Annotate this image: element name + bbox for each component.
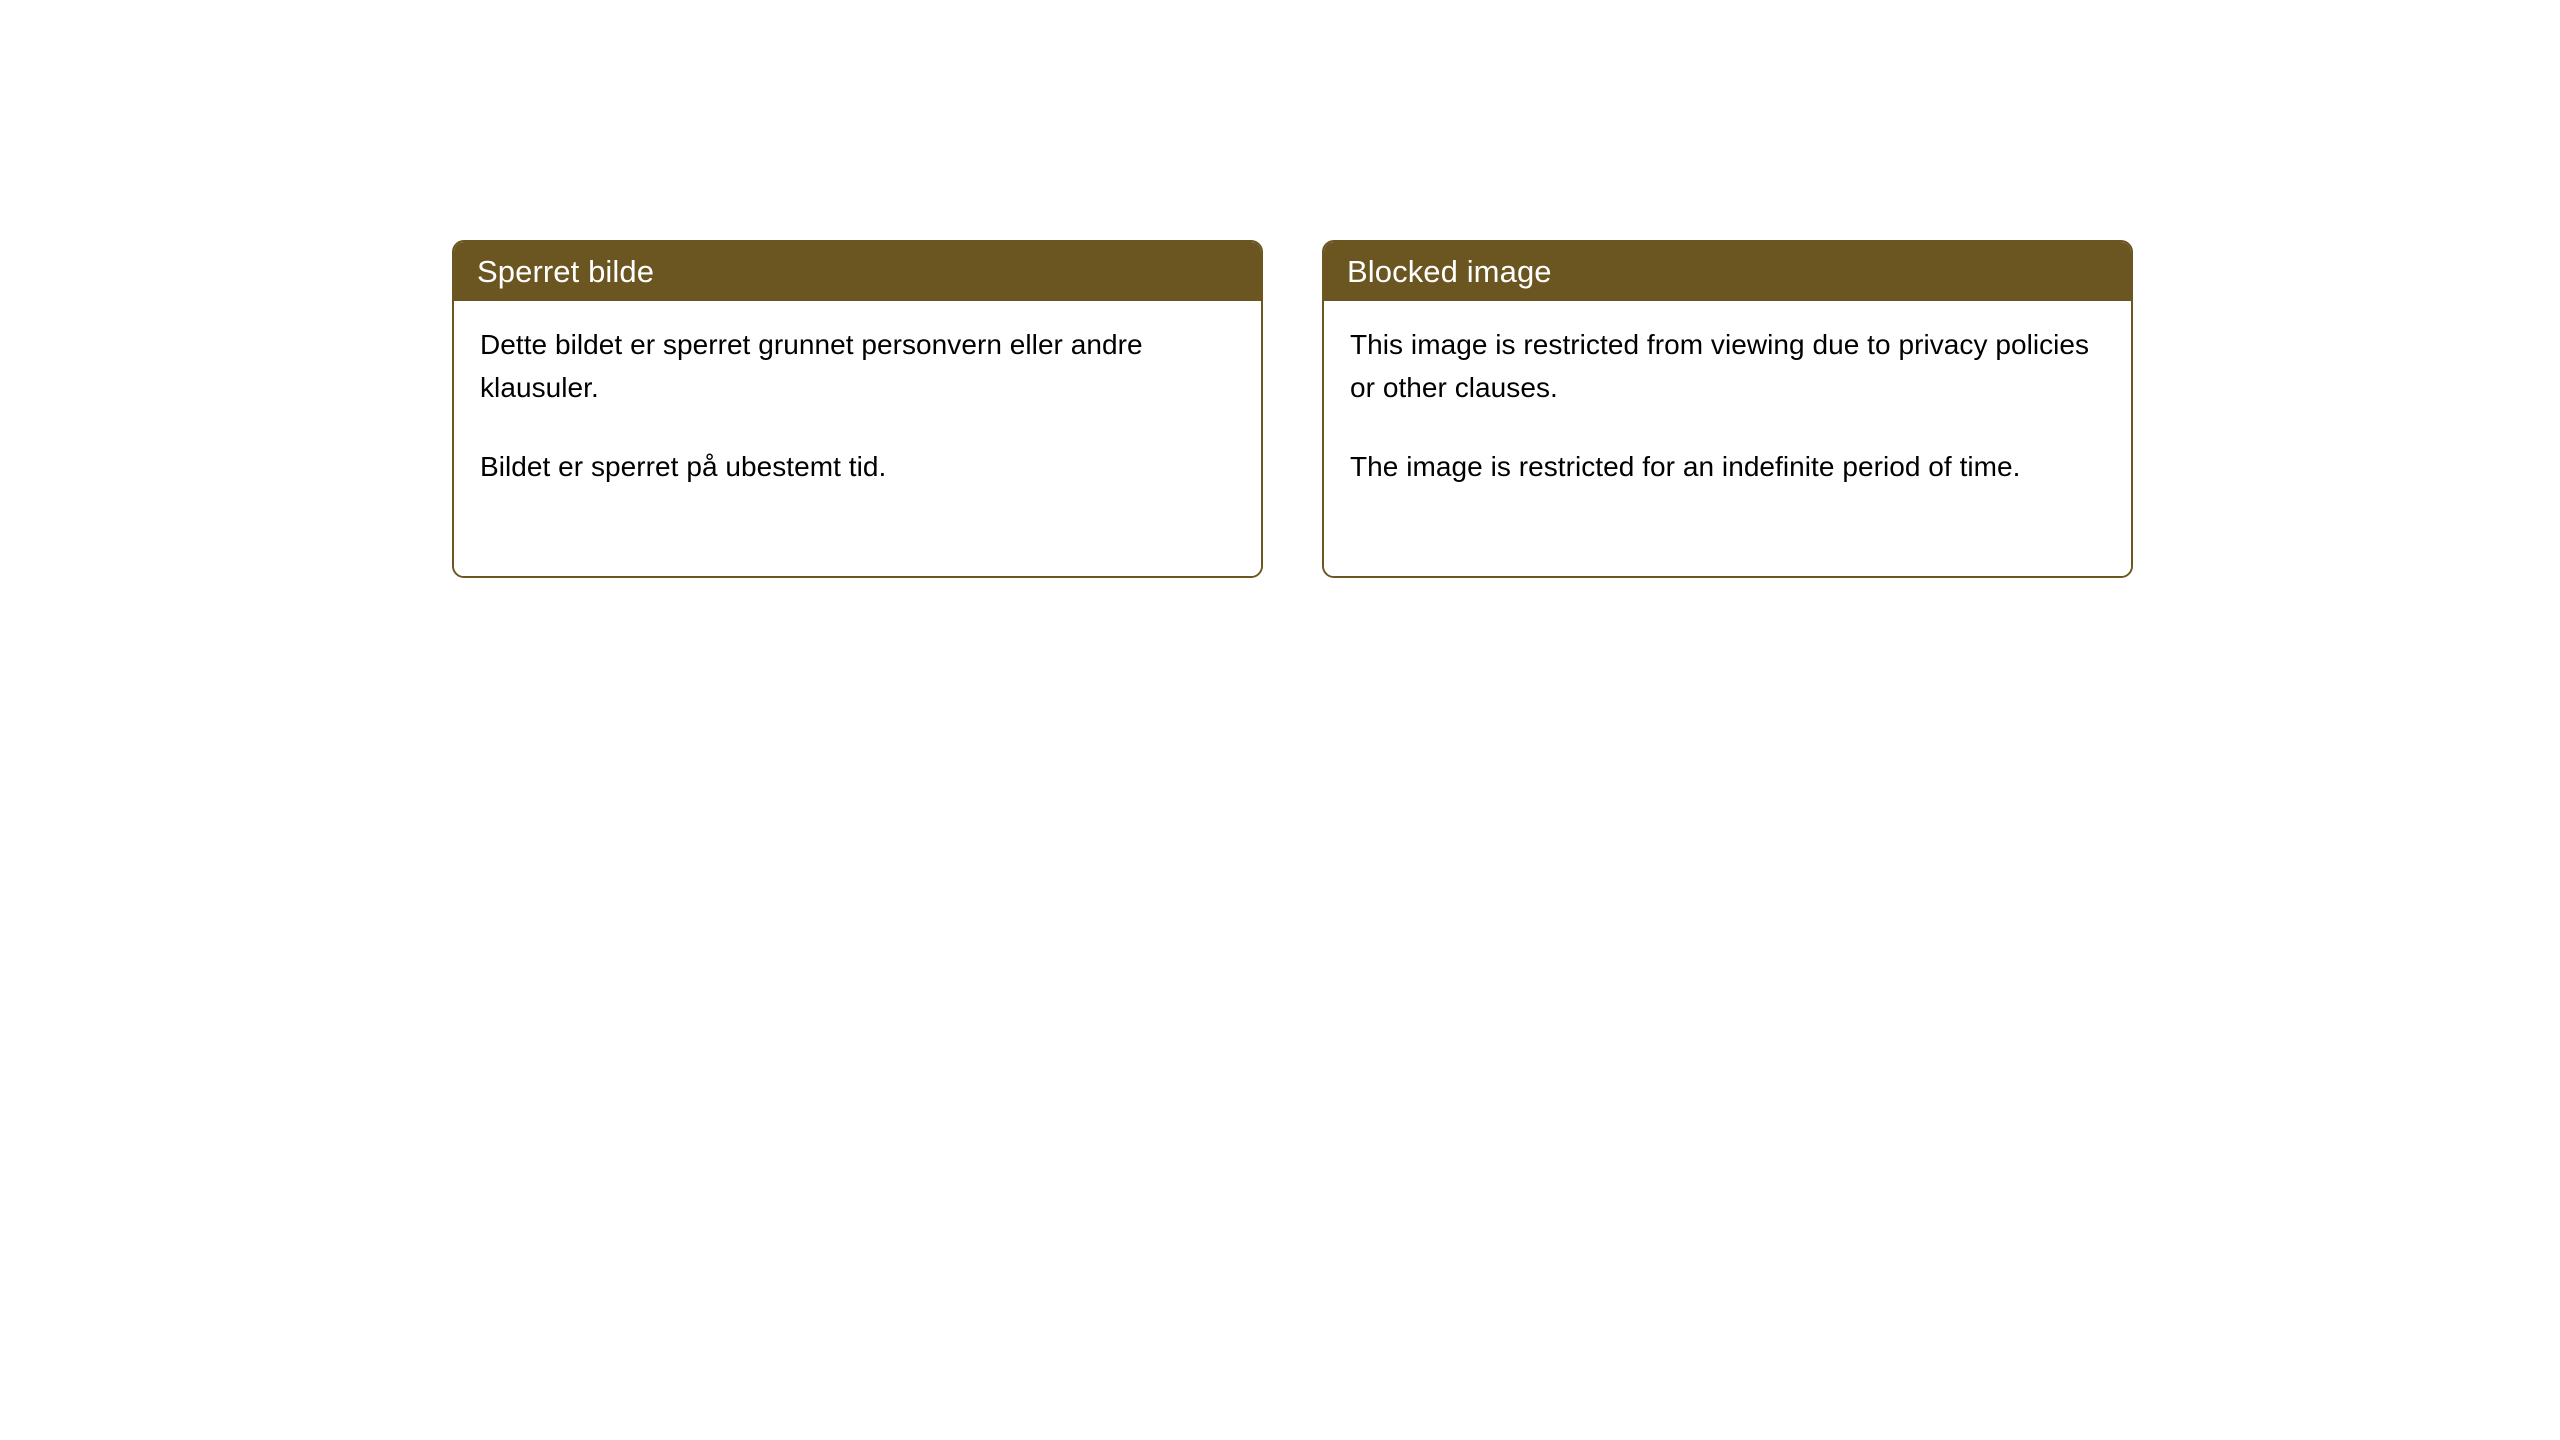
card-header-en: Blocked image [1324, 242, 2131, 301]
blocked-image-notice-card-no: Sperret bilde Dette bildet er sperret gr… [452, 240, 1263, 578]
card-header-no: Sperret bilde [454, 242, 1261, 301]
blocked-image-notice-card-en: Blocked image This image is restricted f… [1322, 240, 2133, 578]
card-paragraph-primary-en: This image is restricted from viewing du… [1350, 323, 2107, 409]
page-root: Sperret bilde Dette bildet er sperret gr… [0, 0, 2560, 1440]
card-title-en: Blocked image [1347, 256, 1552, 287]
card-body-no: Dette bildet er sperret grunnet personve… [454, 301, 1261, 576]
card-paragraph-primary-no: Dette bildet er sperret grunnet personve… [480, 323, 1237, 409]
card-paragraph-secondary-no: Bildet er sperret på ubestemt tid. [480, 445, 1237, 488]
blocked-image-notice-group: Sperret bilde Dette bildet er sperret gr… [452, 240, 2133, 578]
card-body-en: This image is restricted from viewing du… [1324, 301, 2131, 576]
card-title-no: Sperret bilde [477, 256, 654, 287]
card-paragraph-secondary-en: The image is restricted for an indefinit… [1350, 445, 2107, 488]
